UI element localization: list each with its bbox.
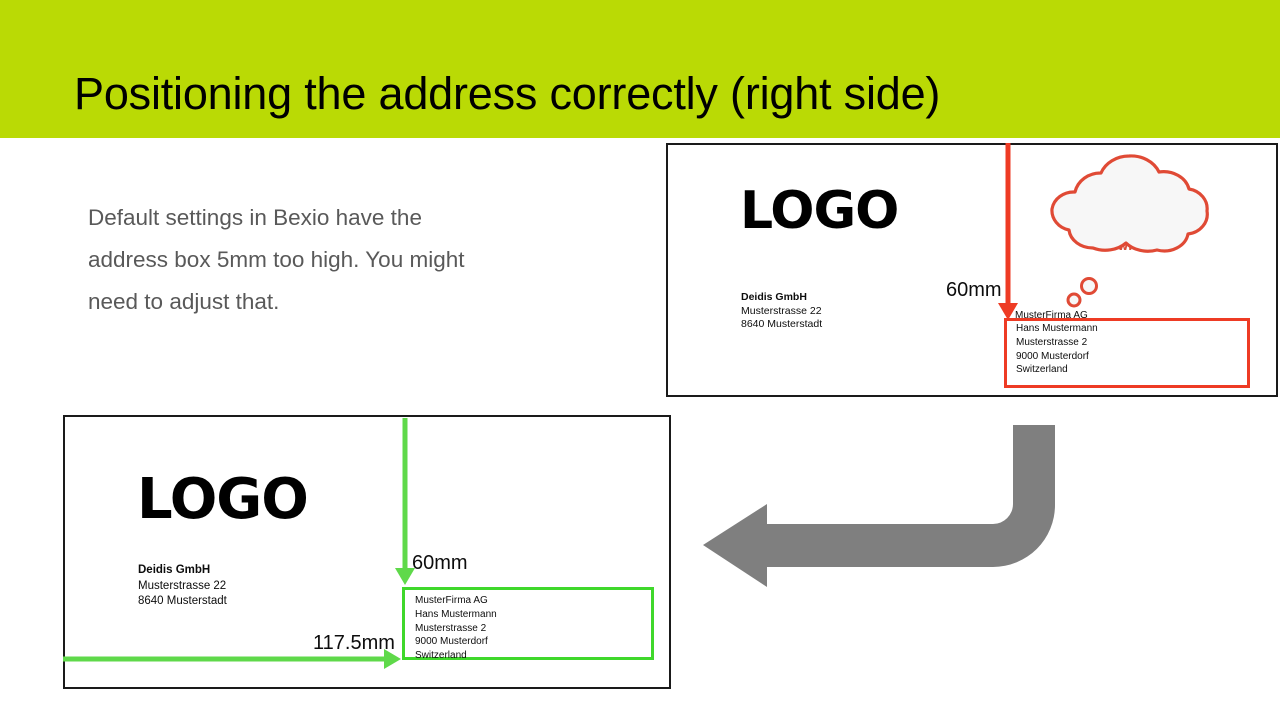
page-title: Positioning the address correctly (right…: [74, 65, 940, 123]
bubble-line-3: down 5mm: [1102, 239, 1173, 253]
recipient-address-correct: MusterFirma AG Hans Mustermann Musterstr…: [415, 594, 497, 663]
sender-address-block: Deidis GmbHMusterstrasse 22 8640 Musters…: [741, 263, 822, 346]
bent-arrow-left-icon: [703, 425, 1055, 587]
recipient-line3: Musterstrasse 2: [1016, 337, 1087, 348]
recipient-line4: 9000 Musterdorf: [1016, 351, 1089, 362]
sender-city: 8640 Musterstadt: [138, 595, 227, 607]
recipient-line2: Hans Mustermann: [1016, 323, 1098, 334]
slide-canvas: Positioning the address correctly (right…: [0, 0, 1280, 720]
recipient-line5: Switzerland: [415, 650, 467, 661]
recipient-line1: MusterFirma AG: [415, 595, 488, 606]
measure-label-vertical-correct: 60mm: [412, 552, 468, 575]
sender-street: Musterstrasse 22: [741, 305, 822, 317]
logo-text: LOGO: [137, 472, 308, 528]
bubble-line-1: Adjust address: [1089, 205, 1186, 219]
sender-city: 8640 Musterstadt: [741, 318, 822, 330]
sender-company: Deidis GmbH: [741, 291, 822, 305]
thought-bubble-text-wrap: Adjust addressplacement in bexiodown 5mm: [1063, 204, 1211, 258]
measure-label-vertical-wrong: 60mm: [946, 279, 1002, 302]
recipient-line3: Musterstrasse 2: [415, 623, 486, 634]
sender-company: Deidis GmbH: [138, 563, 227, 578]
sender-street: Musterstrasse 22: [138, 580, 226, 592]
measure-label-horizontal-correct: 117.5mm: [313, 632, 395, 655]
logo-text: LOGO: [740, 185, 898, 237]
recipient-line4: 9000 Musterdorf: [415, 636, 488, 647]
recipient-line2: Hans Mustermann: [415, 609, 497, 620]
body-paragraph: Default settings in Bexio have the addre…: [88, 197, 508, 323]
thought-bubble-text: Adjust addressplacement in bexiodown 5mm: [1063, 204, 1211, 255]
recipient-address-wrong: Hans Mustermann Musterstrasse 2 9000 Mus…: [1016, 322, 1098, 377]
bubble-line-2: placement in bexio: [1075, 222, 1198, 236]
sender-address-block: Deidis GmbHMusterstrasse 22 8640 Musters…: [138, 533, 227, 624]
recipient-line5: Switzerland: [1016, 364, 1068, 375]
